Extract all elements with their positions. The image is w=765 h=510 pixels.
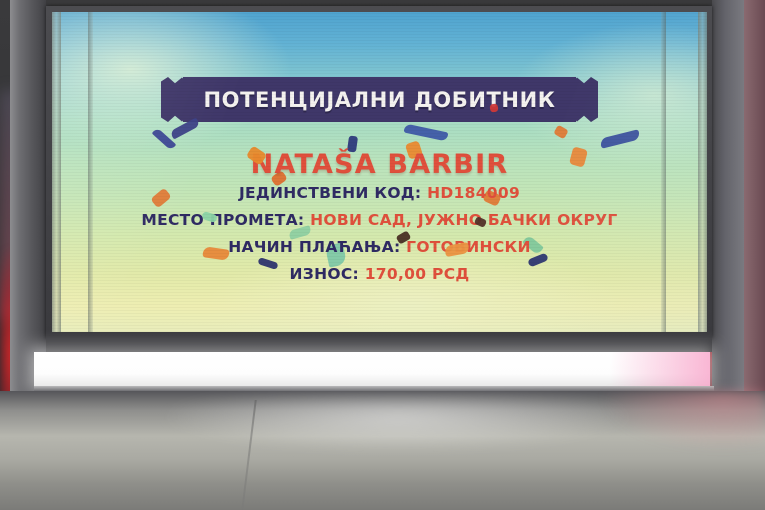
screen-mullion-left-inner <box>88 12 93 332</box>
studio-pillar-left <box>10 0 46 400</box>
confetti-orange-8 <box>553 125 568 140</box>
field-row-unique-code: ЈЕДИНСТВЕНИ КОД: HD184009 <box>52 184 707 202</box>
field-label-place-of-purchase: МЕСТО ПРОМЕТА: <box>141 211 310 229</box>
graphic-content: ПОТЕНЦИЈАЛНИ ДОБИТНИК NATAŠA BARBIR ЈЕДИ… <box>52 12 707 332</box>
studio-light-bar-pink-tint <box>610 352 710 388</box>
field-label-unique-code: ЈЕДИНСТВЕНИ КОД: <box>239 184 427 202</box>
winner-name: NATAŠA BARBIR <box>52 149 707 180</box>
banner-title-text: ПОТЕНЦИЈАЛНИ ДОБИТНИК <box>161 77 598 122</box>
winner-banner: ПОТЕНЦИЈАЛНИ ДОБИТНИК <box>161 77 598 122</box>
field-row-place-of-purchase: МЕСТО ПРОМЕТА: НОВИ САД, ЈУЖНО БАЧКИ ОКР… <box>52 211 707 229</box>
studio-pillar-right <box>712 0 744 400</box>
screen-mullion-right <box>698 12 707 332</box>
studio-floor-pink-reflection <box>600 391 765 451</box>
confetti-red-2 <box>489 103 498 112</box>
field-label-payment-method: НАЧИН ПЛАЋАЊА: <box>228 238 406 256</box>
screen-bottom-bezel <box>46 338 712 352</box>
led-screen: ПОТЕНЦИЈАЛНИ ДОБИТНИК NATAŠA BARBIR ЈЕДИ… <box>52 12 707 332</box>
field-value-unique-code: HD184009 <box>427 184 520 202</box>
field-row-payment-method: НАЧИН ПЛАЋАЊА: ГОТОВИНСКИ <box>52 238 707 256</box>
field-label-amount: ИЗНОС: <box>290 265 365 283</box>
screen-mullion-right-inner <box>661 12 666 332</box>
field-row-amount: ИЗНОС: 170,00 РСД <box>52 265 707 283</box>
field-value-place-of-purchase: НОВИ САД, ЈУЖНО БАЧКИ ОКРУГ <box>310 211 618 229</box>
field-value-amount: 170,00 РСД <box>365 265 470 283</box>
screen-mullion-left <box>52 12 61 332</box>
confetti-navy-ribbon-2 <box>404 124 449 142</box>
confetti-navy-ribbon-3 <box>599 129 640 148</box>
tv-broadcast-screenshot: ПОТЕНЦИЈАЛНИ ДОБИТНИК NATAŠA BARBIR ЈЕДИ… <box>0 0 765 510</box>
studio-pillar-far-right <box>744 0 765 400</box>
studio-light-bar <box>34 352 710 388</box>
